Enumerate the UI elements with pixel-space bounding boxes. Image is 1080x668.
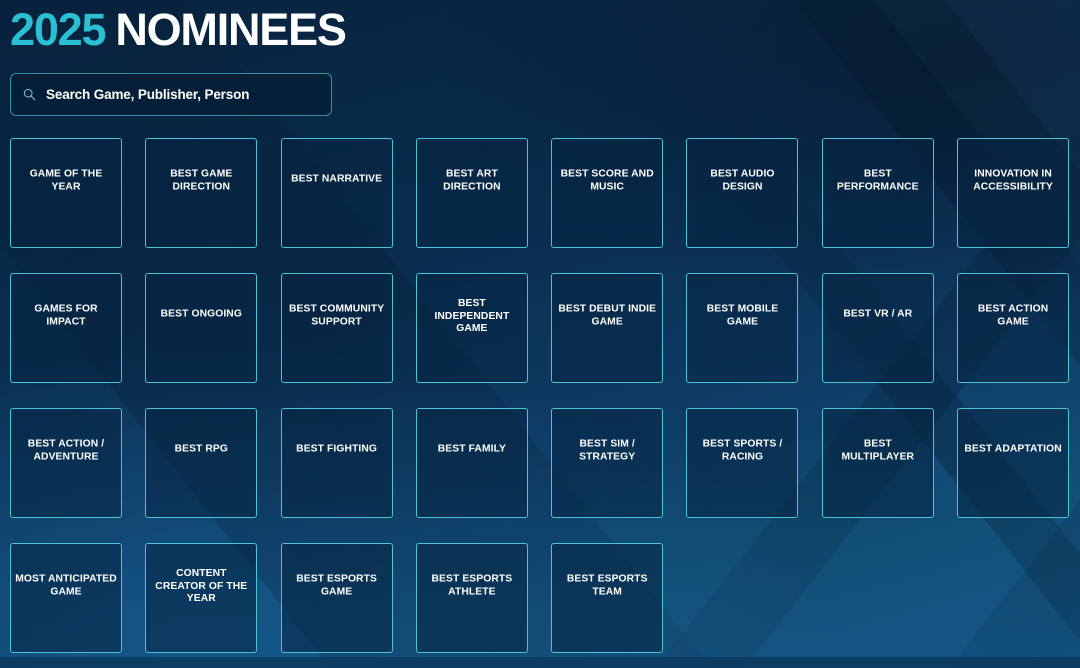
category-card-label: BEST MOBILE GAME (691, 303, 793, 328)
category-card-label: CONTENT CREATOR OF THE YEAR (150, 568, 252, 606)
category-card-label: BEST INDEPENDENT GAME (421, 298, 523, 336)
category-card[interactable]: BEST MOBILE GAME (686, 273, 798, 383)
page-title-text: NOMINEES (115, 4, 345, 55)
category-card-label: BEST ART DIRECTION (421, 168, 523, 193)
category-card[interactable]: CONTENT CREATOR OF THE YEAR (145, 543, 257, 653)
category-card-label: GAME OF THE YEAR (15, 168, 117, 193)
category-card-label: BEST GAME DIRECTION (150, 168, 252, 193)
category-card[interactable]: BEST MULTIPLAYER (822, 408, 934, 518)
category-card-label: BEST ACTION GAME (962, 303, 1064, 328)
category-card-label: BEST FAMILY (421, 444, 523, 457)
category-card[interactable]: INNOVATION IN ACCESSIBILITY (957, 138, 1069, 248)
category-card-label: BEST ADAPTATION (962, 444, 1064, 457)
category-card-label: BEST SPORTS / RACING (691, 438, 793, 463)
category-card[interactable]: BEST AUDIO DESIGN (686, 138, 798, 248)
category-card[interactable]: BEST ADAPTATION (957, 408, 1069, 518)
category-card-label: BEST AUDIO DESIGN (691, 168, 793, 193)
search-bar[interactable] (10, 73, 332, 116)
page-title: 2025NOMINEES (10, 0, 1070, 52)
category-card[interactable]: BEST ESPORTS GAME (281, 543, 393, 653)
category-card-label: BEST VR / AR (827, 309, 929, 322)
category-card[interactable]: BEST ONGOING (145, 273, 257, 383)
page-title-year: 2025 (10, 4, 105, 55)
category-card-label: MOST ANTICIPATED GAME (15, 573, 117, 598)
category-card[interactable]: BEST SCORE AND MUSIC (551, 138, 663, 248)
category-card-label: BEST MULTIPLAYER (827, 438, 929, 463)
category-card[interactable]: BEST ESPORTS TEAM (551, 543, 663, 653)
category-card-label: BEST COMMUNITY SUPPORT (286, 303, 388, 328)
category-card[interactable]: BEST NARRATIVE (281, 138, 393, 248)
category-grid: GAME OF THE YEARBEST GAME DIRECTIONBEST … (10, 138, 1070, 653)
category-card-label: INNOVATION IN ACCESSIBILITY (962, 168, 1064, 193)
category-card-label: BEST SIM / STRATEGY (556, 438, 658, 463)
category-card[interactable]: MOST ANTICIPATED GAME (10, 543, 122, 653)
category-card[interactable]: BEST COMMUNITY SUPPORT (281, 273, 393, 383)
category-card[interactable]: BEST INDEPENDENT GAME (416, 273, 528, 383)
category-card[interactable]: GAMES FOR IMPACT (10, 273, 122, 383)
category-card-label: BEST SCORE AND MUSIC (556, 168, 658, 193)
category-card-label: BEST ESPORTS GAME (286, 573, 388, 598)
category-card[interactable]: BEST ACTION / ADVENTURE (10, 408, 122, 518)
category-card-label: BEST ESPORTS ATHLETE (421, 573, 523, 598)
search-icon (23, 88, 36, 101)
category-card[interactable]: BEST DEBUT INDIE GAME (551, 273, 663, 383)
category-card[interactable]: BEST FAMILY (416, 408, 528, 518)
category-card[interactable]: BEST ESPORTS ATHLETE (416, 543, 528, 653)
category-card[interactable]: BEST ART DIRECTION (416, 138, 528, 248)
category-card-label: BEST ONGOING (150, 309, 252, 322)
category-card[interactable]: BEST FIGHTING (281, 408, 393, 518)
nominees-page: 2025NOMINEES GAME OF THE YEARBEST GAME D… (0, 0, 1080, 668)
category-card[interactable]: BEST PERFORMANCE (822, 138, 934, 248)
category-card[interactable]: BEST RPG (145, 408, 257, 518)
search-input[interactable] (46, 87, 319, 102)
category-card-label: BEST ACTION / ADVENTURE (15, 438, 117, 463)
category-card[interactable]: BEST ACTION GAME (957, 273, 1069, 383)
category-card[interactable]: GAME OF THE YEAR (10, 138, 122, 248)
category-card-label: BEST RPG (150, 444, 252, 457)
category-card-label: BEST PERFORMANCE (827, 168, 929, 193)
category-card-label: GAMES FOR IMPACT (15, 303, 117, 328)
category-card[interactable]: BEST VR / AR (822, 273, 934, 383)
category-card[interactable]: BEST GAME DIRECTION (145, 138, 257, 248)
category-card-label: BEST NARRATIVE (286, 174, 388, 187)
category-card[interactable]: BEST SIM / STRATEGY (551, 408, 663, 518)
category-card-label: BEST FIGHTING (286, 444, 388, 457)
category-card[interactable]: BEST SPORTS / RACING (686, 408, 798, 518)
category-card-label: BEST DEBUT INDIE GAME (556, 303, 658, 328)
category-card-label: BEST ESPORTS TEAM (556, 573, 658, 598)
